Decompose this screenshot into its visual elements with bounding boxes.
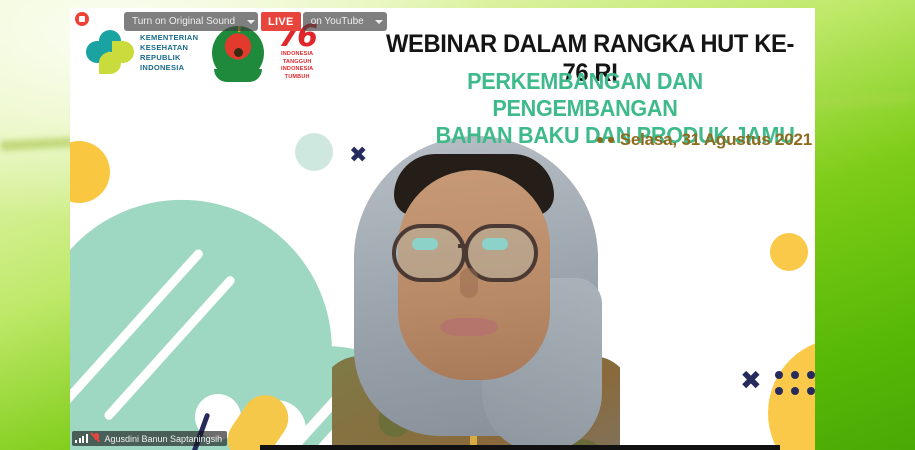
kemenkes-logo-text: KEMENTERIAN KESEHATAN REPUBLIK INDONESIA <box>140 33 198 74</box>
microphone-muted-icon <box>92 433 101 444</box>
hut-76-logo: 76 INDONESIA TANGGUH INDONESIA TUMBUH <box>278 24 316 81</box>
hut-caption-line-1: INDONESIA <box>281 51 313 59</box>
kemenkes-line-3: REPUBLIK <box>140 53 198 63</box>
kemenkes-logo: KEMENTERIAN KESEHATAN REPUBLIK INDONESIA <box>86 30 198 76</box>
speaker-video-feed <box>332 128 620 450</box>
eyeglasses-bridge <box>458 244 466 248</box>
white-stripe-1 <box>70 248 205 414</box>
shared-screen-panel[interactable]: ✖ ✖ <box>70 8 815 450</box>
hut-caption-line-3: INDONESIA <box>281 66 313 74</box>
slide-logo-row: KEMENTERIAN KESEHATAN REPUBLIK INDONESIA… <box>86 22 316 84</box>
hut-76-caption: INDONESIA TANGGUH INDONESIA TUMBUH <box>281 51 313 82</box>
mint-circle-decor <box>295 133 333 171</box>
slide-subtitle-line-1: PERKEMBANGAN DAN PENGEMBANGAN <box>374 68 797 122</box>
slide-date: Selasa, 31 Agustus 2021 <box>550 130 812 150</box>
eyeglasses-left-lens <box>392 224 466 282</box>
white-stripe-2 <box>103 274 237 421</box>
yellow-circle-right <box>770 233 808 271</box>
hut-caption-line-4: TUMBUH <box>281 74 313 82</box>
participant-name: Agusdini Banun Saptaningsih <box>105 434 223 444</box>
chevron-down-icon-sound[interactable] <box>243 12 258 31</box>
hut-caption-line-2: TANGGUH <box>281 59 313 67</box>
bottom-black-bar <box>260 445 780 450</box>
kemenkes-line-2: KESEHATAN <box>140 43 198 53</box>
navy-dot-grid <box>775 371 815 403</box>
navy-x-icon-right: ✖ <box>740 368 762 394</box>
stream-target-button[interactable]: on YouTube <box>303 12 372 31</box>
yellow-circle-left <box>70 141 110 203</box>
kemenkes-line-4: INDONESIA <box>140 63 198 73</box>
live-badge: LIVE <box>261 12 301 31</box>
kemenkes-line-1: KEMENTERIAN <box>140 33 198 43</box>
indonesia-health-emblem-icon <box>208 22 268 84</box>
date-bullet-dots <box>597 137 614 143</box>
participant-name-tag: Agusdini Banun Saptaningsih <box>72 431 227 446</box>
signal-bars-icon <box>75 434 88 443</box>
zoom-meeting-window: ✖ ✖ <box>0 0 915 450</box>
date-text: Selasa, 31 Agustus 2021 <box>620 130 812 150</box>
recording-indicator-icon[interactable] <box>75 12 89 26</box>
chevron-down-icon-stream[interactable] <box>372 12 387 31</box>
speaker-lips <box>440 318 498 336</box>
speaker-nose <box>460 268 478 298</box>
meeting-control-bar: Turn on Original Sound LIVE on YouTube <box>124 12 390 31</box>
original-sound-button[interactable]: Turn on Original Sound <box>124 12 243 31</box>
white-notch-decor <box>246 400 306 450</box>
kemenkes-petals-icon <box>86 30 134 76</box>
yellow-rounded-shape <box>219 386 297 450</box>
